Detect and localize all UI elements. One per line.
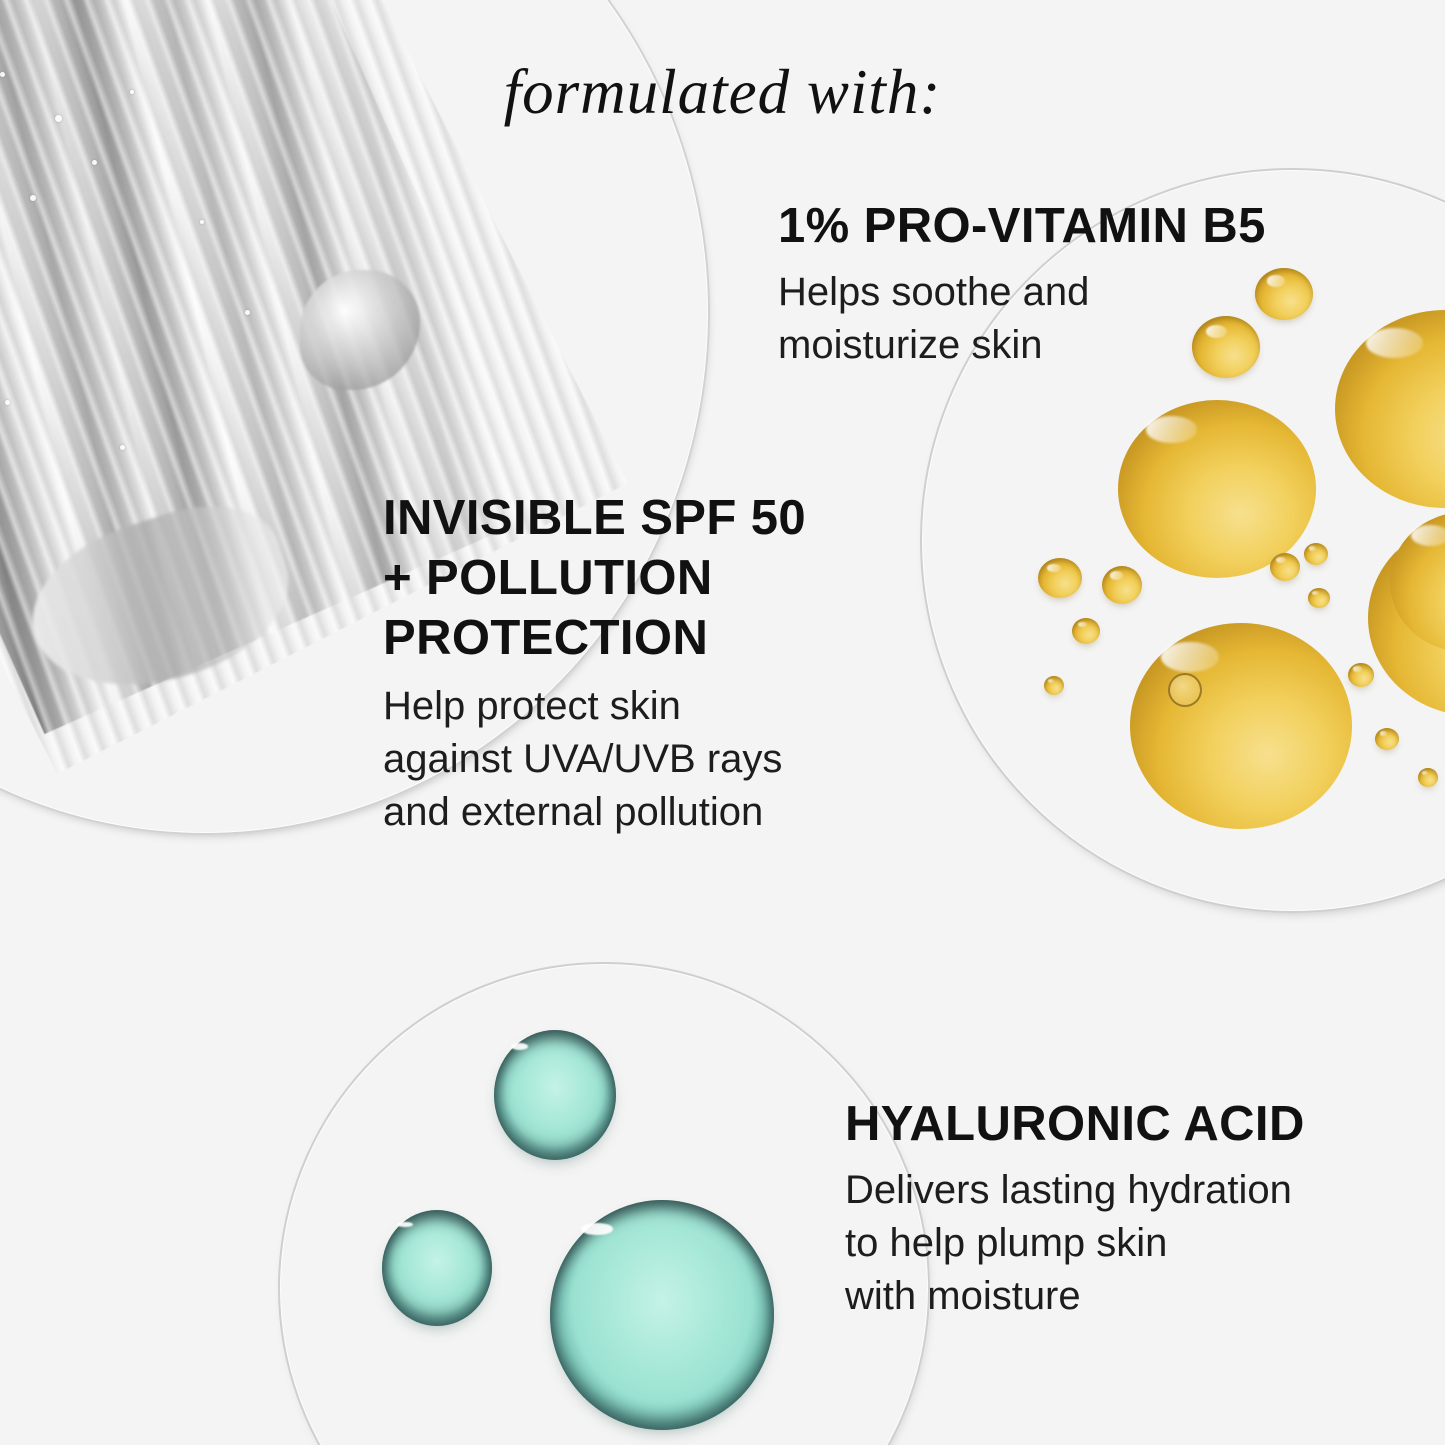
ingredient-body-line: with moisture xyxy=(845,1270,1305,1323)
infographic-canvas: formulated with: 1% PRO-VITAMIN B5 Helps… xyxy=(0,0,1445,1445)
ingredient-title-invisible-spf-50: INVISIBLE SPF 50 + POLLUTION PROTECTION xyxy=(383,488,806,668)
ingredient-body-invisible-spf-50: Help protect skin against UVA/UVB rays a… xyxy=(383,680,806,839)
ingredient-body-line: and external pollution xyxy=(383,786,806,839)
oil-droplet xyxy=(1270,553,1300,581)
oil-droplet xyxy=(1348,663,1374,687)
ingredient-title-pro-vitamin-b5: 1% PRO-VITAMIN B5 xyxy=(778,198,1266,254)
ingredient-body-line: against UVA/UVB rays xyxy=(383,733,806,786)
oil-droplet xyxy=(1130,623,1352,829)
ingredient-block-pro-vitamin-b5: 1% PRO-VITAMIN B5 Helps soothe and moist… xyxy=(778,198,1266,372)
ingredient-body-line: Delivers lasting hydration xyxy=(845,1164,1305,1217)
oil-droplet xyxy=(1102,566,1142,604)
ingredient-title-line: PROTECTION xyxy=(383,608,806,668)
hydration-droplet xyxy=(550,1200,774,1430)
ingredient-title-line: + POLLUTION xyxy=(383,548,806,608)
hydration-droplet xyxy=(494,1030,616,1160)
ingredient-block-invisible-spf-50: INVISIBLE SPF 50 + POLLUTION PROTECTION … xyxy=(383,488,806,839)
oil-droplet xyxy=(1044,676,1064,695)
ingredient-body-hyaluronic-acid: Delivers lasting hydration to help plump… xyxy=(845,1164,1305,1323)
page-title: formulated with: xyxy=(0,56,1445,129)
ingredient-body-line: Helps soothe and xyxy=(778,266,1266,319)
ingredient-body-line: Help protect skin xyxy=(383,680,806,733)
ingredient-title-hyaluronic-acid: HYALURONIC ACID xyxy=(845,1096,1305,1152)
oil-droplet xyxy=(1304,543,1328,565)
oil-droplet xyxy=(1308,588,1330,608)
hydration-droplet xyxy=(382,1210,492,1326)
oil-droplet xyxy=(1038,558,1082,598)
oil-droplet xyxy=(1072,618,1100,644)
oil-bubble-ring xyxy=(1168,673,1202,707)
ingredient-body-line: moisturize skin xyxy=(778,319,1266,372)
ingredient-title-line: INVISIBLE SPF 50 xyxy=(383,488,806,548)
oil-droplet xyxy=(1375,728,1399,750)
hydration-droplets-image xyxy=(278,962,930,1445)
ingredient-body-pro-vitamin-b5: Helps soothe and moisturize skin xyxy=(778,266,1266,372)
oil-droplet xyxy=(1418,768,1438,787)
ingredient-block-hyaluronic-acid: HYALURONIC ACID Delivers lasting hydrati… xyxy=(845,1096,1305,1323)
oil-droplet xyxy=(1335,310,1445,508)
oil-droplet xyxy=(1118,400,1316,578)
ingredient-body-line: to help plump skin xyxy=(845,1217,1305,1270)
